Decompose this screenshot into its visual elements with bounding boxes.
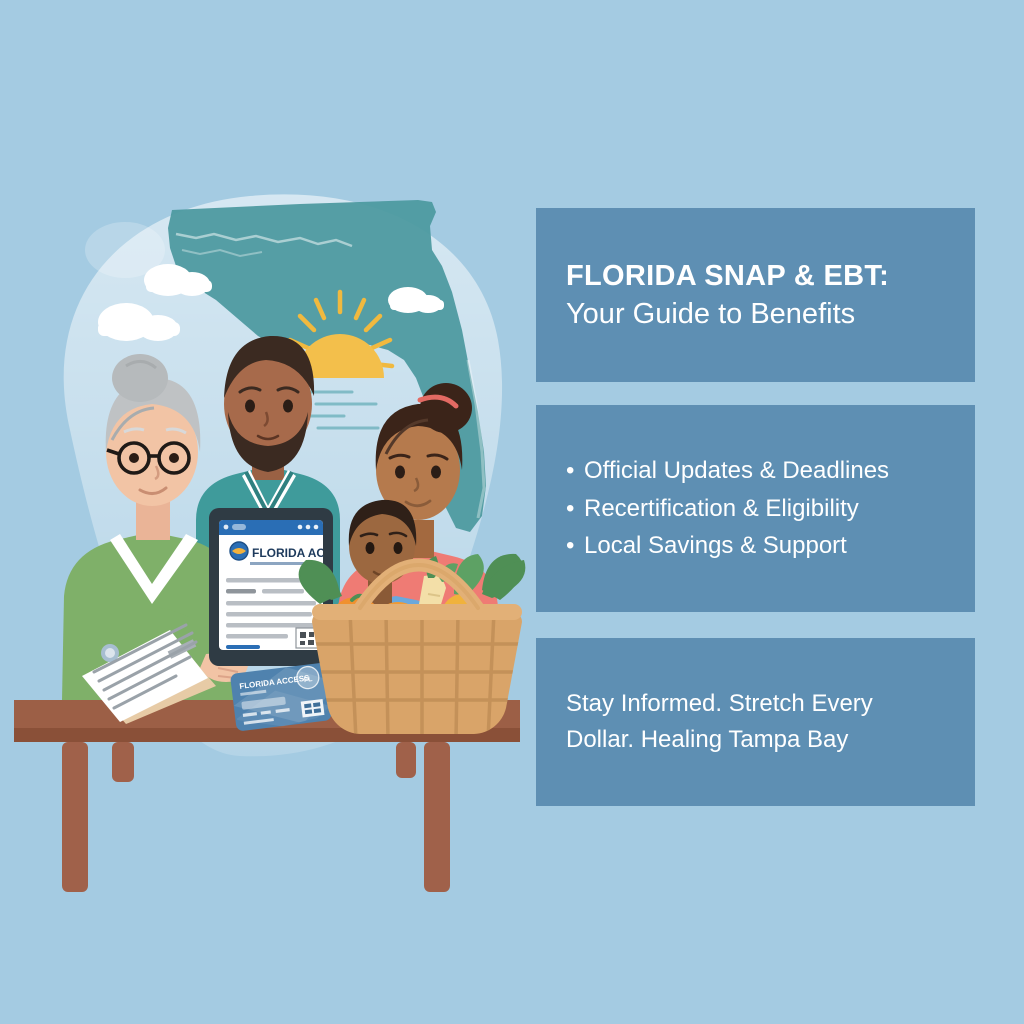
title-panel: FLORIDA SNAP & EBT: Your Guide to Benefi… bbox=[536, 208, 975, 382]
list-item-label: Recertification & Eligibility bbox=[584, 490, 859, 528]
title-line-2: Your Guide to Benefits bbox=[566, 295, 945, 333]
card-chip-icon bbox=[301, 699, 325, 718]
tagline-line-1: Stay Informed. Stretch Every bbox=[566, 686, 945, 722]
list-item: • Official Updates & Deadlines bbox=[566, 452, 945, 490]
tagline-panel: Stay Informed. Stretch Every Dollar. Hea… bbox=[536, 638, 975, 806]
bullet-dot-icon: • bbox=[566, 452, 584, 490]
bullet-dot-icon: • bbox=[566, 527, 584, 565]
poster-canvas: FLORIDA ACCESS bbox=[0, 0, 1024, 1024]
list-item: • Local Savings & Support bbox=[566, 527, 945, 565]
illustration-svg: FLORIDA ACCESS bbox=[0, 0, 530, 1024]
svg-text:FL: FL bbox=[303, 676, 313, 684]
illustration-area: FLORIDA ACCESS bbox=[0, 0, 530, 1024]
tagline-line-2: Dollar. Healing Tampa Bay bbox=[566, 722, 945, 758]
bullet-dot-icon: • bbox=[566, 490, 584, 528]
title-line-1: FLORIDA SNAP & EBT: bbox=[566, 257, 945, 295]
benefits-list: • Official Updates & Deadlines • Recerti… bbox=[566, 452, 945, 566]
florida-access-logo-icon bbox=[230, 542, 248, 560]
bullets-panel: • Official Updates & Deadlines • Recerti… bbox=[536, 405, 975, 612]
list-item-label: Official Updates & Deadlines bbox=[584, 452, 889, 490]
list-item: • Recertification & Eligibility bbox=[566, 490, 945, 528]
list-item-label: Local Savings & Support bbox=[584, 527, 847, 565]
